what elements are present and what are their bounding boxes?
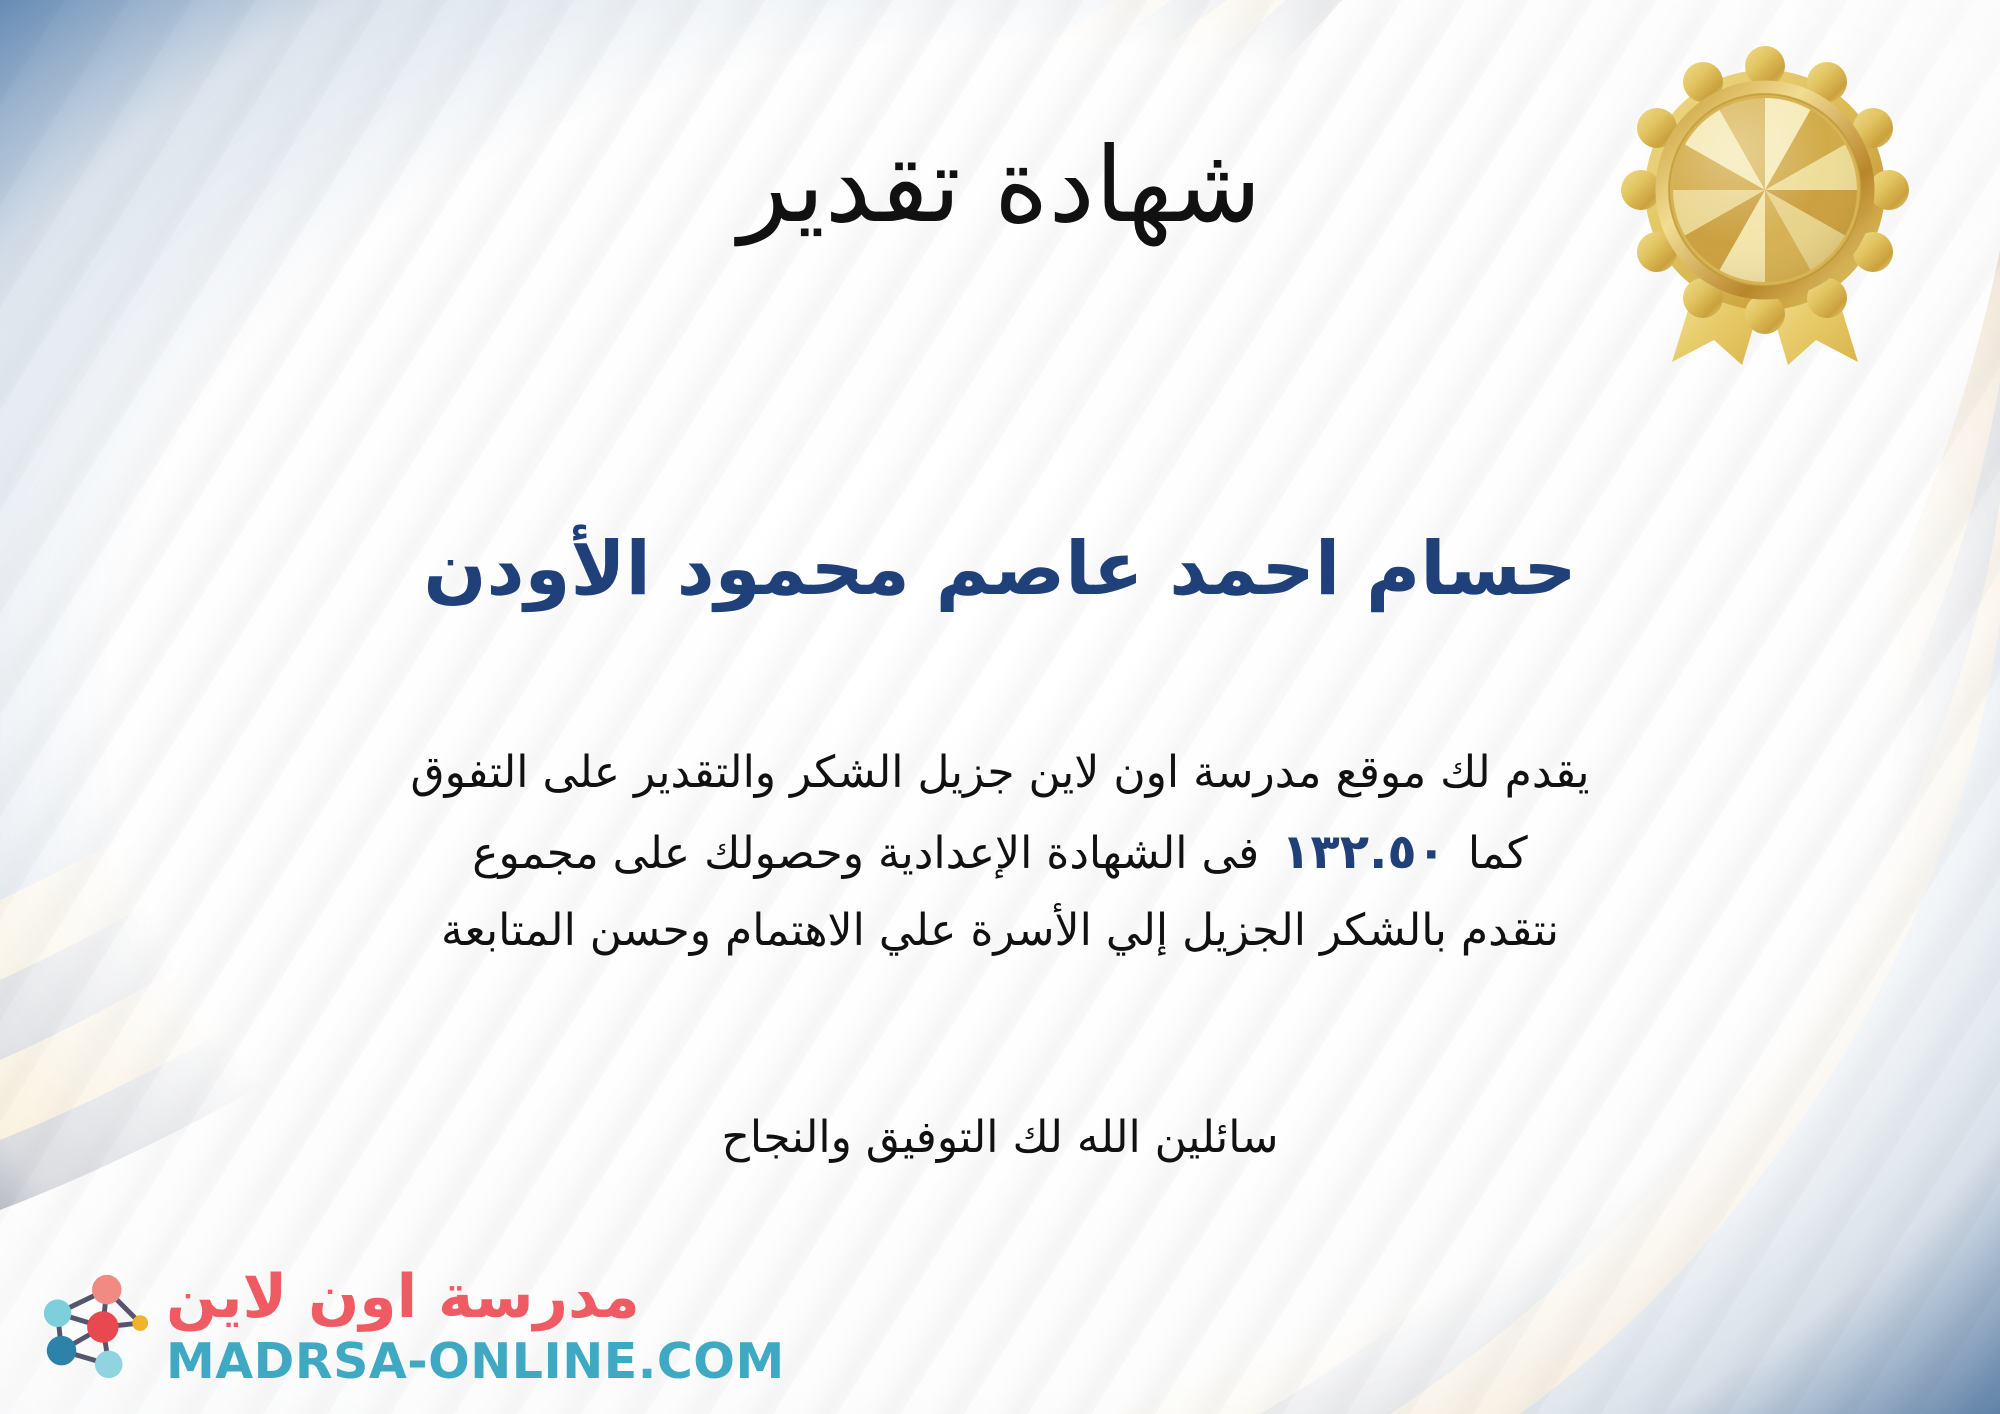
body-line-2-suffix: كما bbox=[1468, 828, 1528, 879]
body-line-2: كما١٣٢.٥٠فى الشهادة الإعدادية وحصولك على… bbox=[50, 811, 1950, 894]
certificate-title: شهادة تقدير bbox=[0, 128, 2000, 242]
closing-blessing-line: سائلين الله لك التوفيق والنجاح bbox=[0, 1112, 2000, 1163]
certificate-canvas: شهادة تقدير حسام احمد عاصم محمود الأودن … bbox=[0, 0, 2000, 1414]
certificate-content: شهادة تقدير حسام احمد عاصم محمود الأودن … bbox=[0, 0, 2000, 1414]
site-logo[interactable]: مدرسة اون لاين MADRSA-ONLINE.COM bbox=[34, 1267, 785, 1386]
logo-arabic-name: مدرسة اون لاين bbox=[166, 1267, 640, 1327]
certificate-body: يقدم لك موقع مدرسة اون لاين جزيل الشكر و… bbox=[50, 735, 1950, 969]
body-line-1: يقدم لك موقع مدرسة اون لاين جزيل الشكر و… bbox=[50, 735, 1950, 811]
logo-text-group: مدرسة اون لاين MADRSA-ONLINE.COM bbox=[166, 1267, 785, 1386]
body-line-2-prefix: فى الشهادة الإعدادية وحصولك على مجموع bbox=[472, 828, 1259, 879]
grade-total-value: ١٣٢.٥٠ bbox=[1259, 824, 1468, 880]
network-nodes-icon bbox=[34, 1268, 152, 1386]
body-line-3: نتقدم بالشكر الجزيل إلي الأسرة علي الاهت… bbox=[50, 893, 1950, 969]
student-name: حسام احمد عاصم محمود الأودن bbox=[0, 525, 2000, 614]
logo-website: MADRSA-ONLINE.COM bbox=[166, 1337, 785, 1386]
